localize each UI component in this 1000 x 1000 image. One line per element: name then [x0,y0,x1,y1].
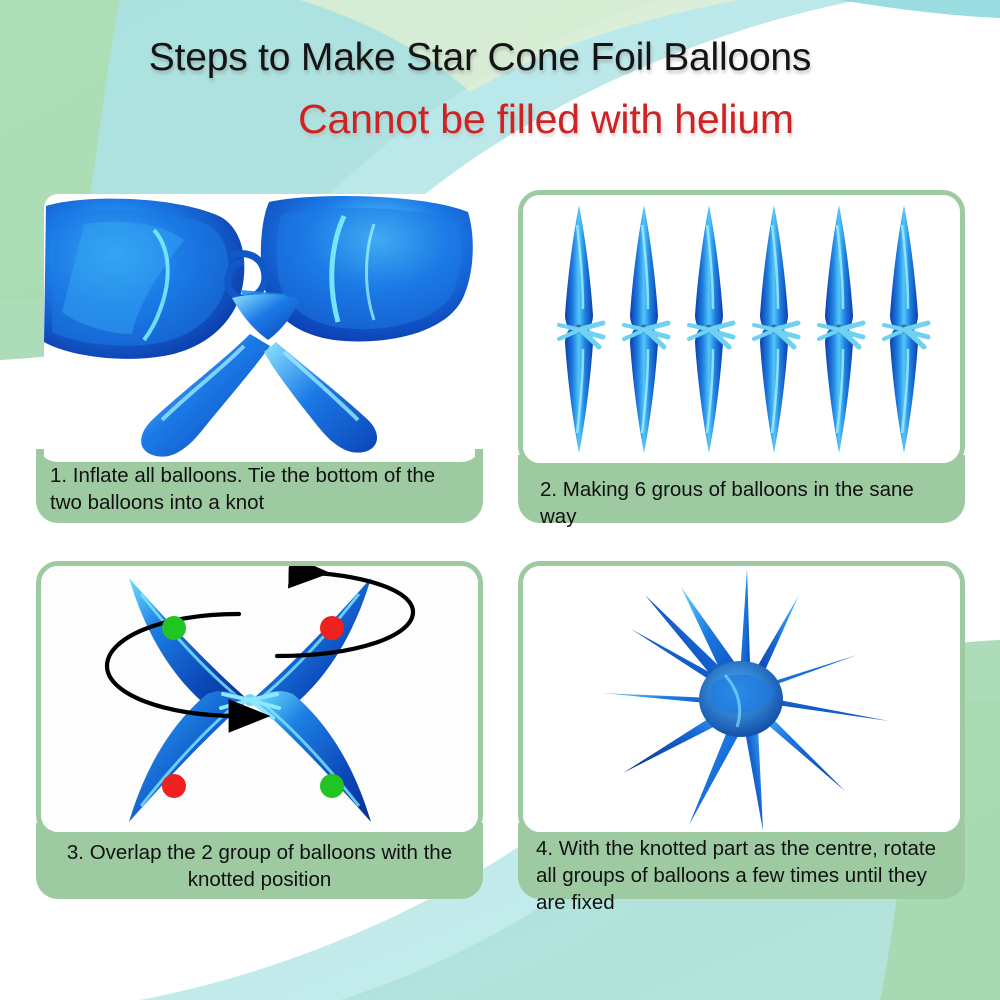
page-title: Steps to Make Star Cone Foil Balloons [0,36,960,80]
step-4-image [518,561,965,837]
step-4-caption: 4. With the knotted part as the centre, … [518,835,965,916]
step-2-image [518,190,965,468]
step-card-2: 2. Making 6 grous of balloons in the san… [518,190,965,523]
marker-green-top-left [162,616,186,640]
page-header: Steps to Make Star Cone Foil Balloons Ca… [0,0,1000,165]
step-1-image [36,190,483,462]
marker-green-bottom-right [320,774,344,798]
marker-red-bottom-left [162,774,186,798]
marker-red-top-right [320,616,344,640]
step-card-3: 3. Overlap the 2 group of balloons with … [36,561,483,899]
step-1-caption: 1. Inflate all balloons. Tie the bottom … [36,462,483,516]
step-2-caption: 2. Making 6 grous of balloons in the san… [518,476,965,530]
step-3-caption: 3. Overlap the 2 group of balloons with … [36,839,483,893]
step-3-image [36,561,483,837]
step-card-4: 4. With the knotted part as the centre, … [518,561,965,899]
step-card-1: 1. Inflate all balloons. Tie the bottom … [36,190,483,523]
page-subtitle-warning: Cannot be filled with helium [0,96,1000,143]
